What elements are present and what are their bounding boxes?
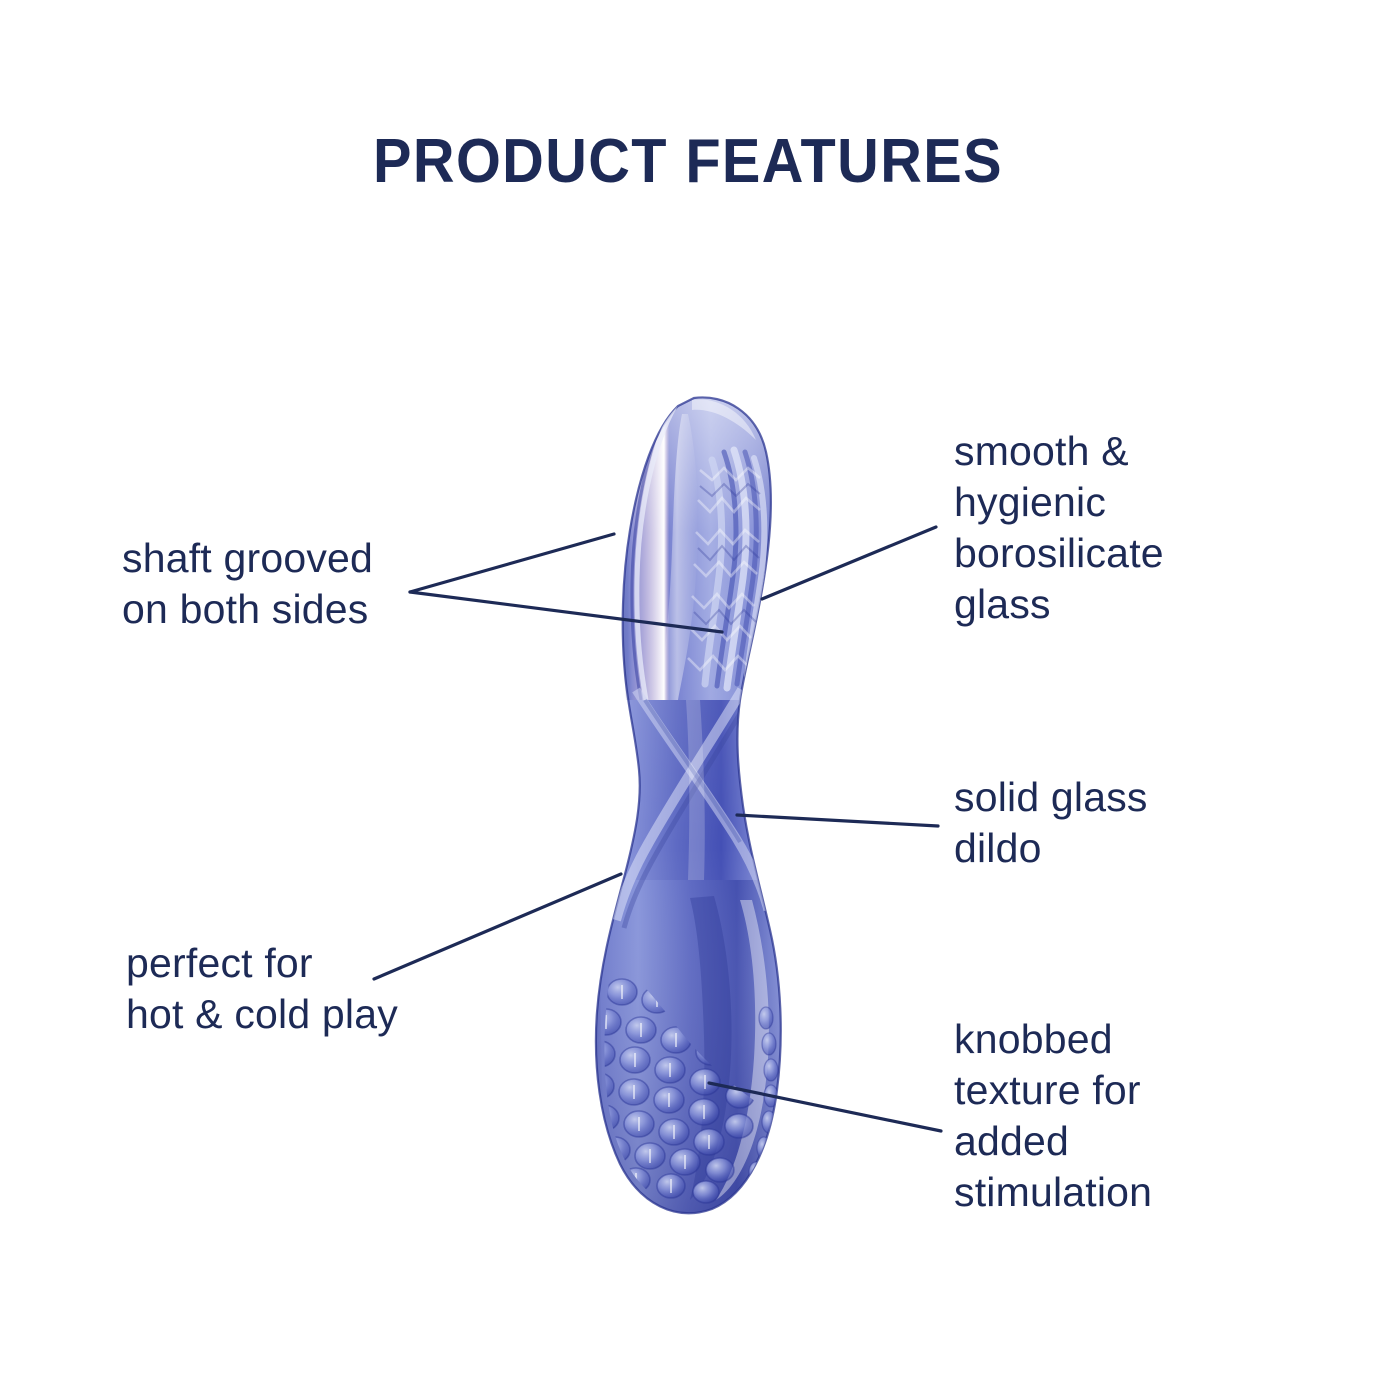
callout-shaft-grooved: shaft grooved on both sides [122,533,452,635]
callout-borosilicate-glass: smooth & hygienic borosilicate glass [954,426,1254,630]
callout-solid-glass-dildo: solid glass dildo [954,772,1254,874]
product-body [560,380,820,1230]
product-features-infographic: PRODUCT FEATURES [0,0,1376,1376]
callout-hot-cold-play: perfect for hot & cold play [126,938,486,1040]
leader-borosilicate-glass [762,527,936,599]
leader-solid-glass-dildo [737,815,938,826]
callout-knobbed-texture: knobbed texture for added stimulation [954,1014,1254,1218]
